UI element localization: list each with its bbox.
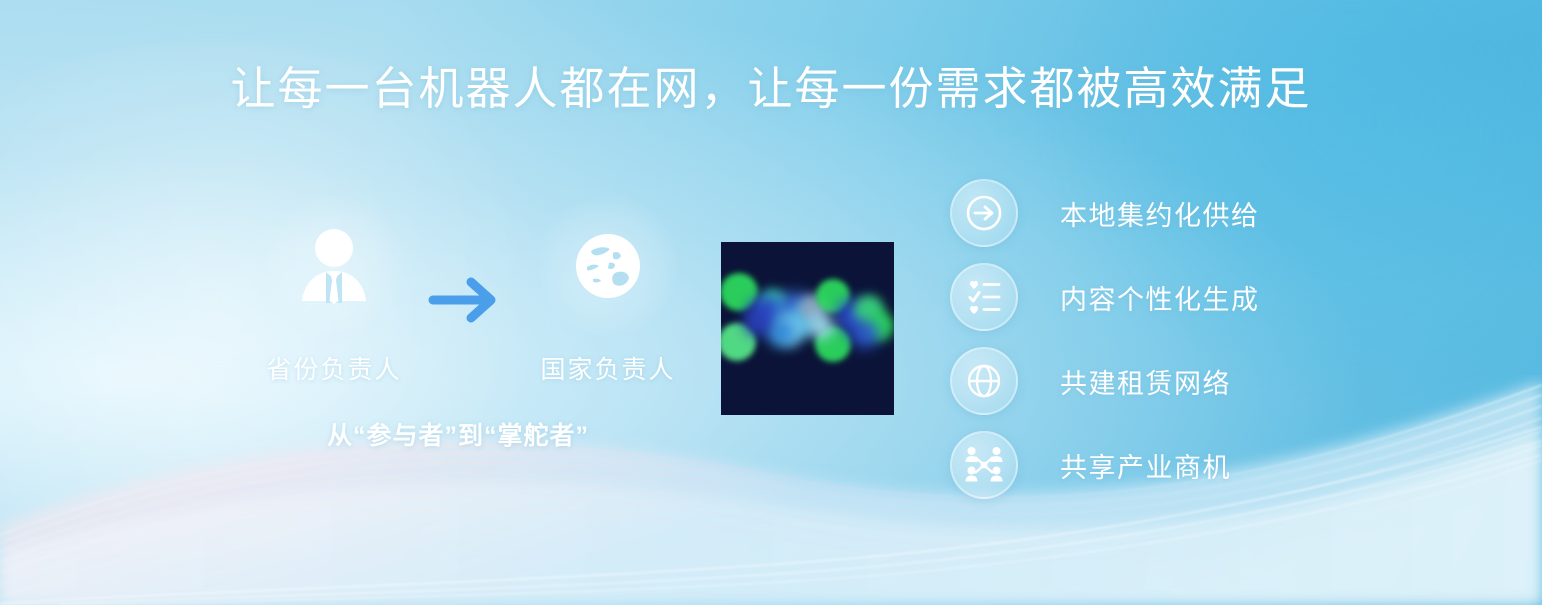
- checklist-icon: [950, 263, 1018, 331]
- bokeh-dot: [851, 320, 879, 348]
- bokeh-lights-photo: [721, 242, 894, 415]
- banner-stage: 让每一台机器人都在网，让每一份需求都被高效满足 省份负责人: [0, 0, 1542, 605]
- flow-node-from: 省份负责人: [236, 196, 432, 386]
- person-in-suit-icon: [296, 227, 372, 305]
- feature-item-3[interactable]: 共享产业商机: [950, 433, 1420, 497]
- bokeh-dot: [767, 318, 795, 346]
- feature-item-1[interactable]: 内容个性化生成: [950, 265, 1420, 329]
- flow-node-to: 国家负责人: [510, 196, 706, 386]
- role-flow: 省份负责人: [218, 196, 698, 466]
- bokeh-dot: [744, 309, 770, 335]
- person-halo: [264, 196, 404, 336]
- globe-halo: [538, 196, 678, 336]
- flow-node-to-label: 国家负责人: [510, 350, 706, 386]
- feature-item-3-label: 共享产业商机: [1060, 446, 1231, 485]
- feature-list: 本地集约化供给 内容个性化生成: [950, 181, 1420, 497]
- feature-item-0[interactable]: 本地集约化供给: [950, 181, 1420, 245]
- right-arrow-icon: [425, 272, 505, 328]
- flow-node-from-label: 省份负责人: [236, 350, 432, 386]
- people-network-icon: [950, 431, 1018, 499]
- globe-icon: [571, 229, 645, 303]
- arrow-circle-icon: [950, 179, 1018, 247]
- globe-grid-icon: [950, 347, 1018, 415]
- feature-item-2[interactable]: 共建租赁网络: [950, 349, 1420, 413]
- feature-item-0-label: 本地集约化供给: [1060, 194, 1260, 233]
- bokeh-dot: [808, 313, 834, 339]
- feature-item-1-label: 内容个性化生成: [1060, 278, 1260, 317]
- feature-item-2-label: 共建租赁网络: [1060, 362, 1231, 401]
- page-title: 让每一台机器人都在网，让每一份需求都被高效满足: [0, 62, 1542, 116]
- flow-caption: 从“参与者”到“掌舵者”: [218, 416, 698, 452]
